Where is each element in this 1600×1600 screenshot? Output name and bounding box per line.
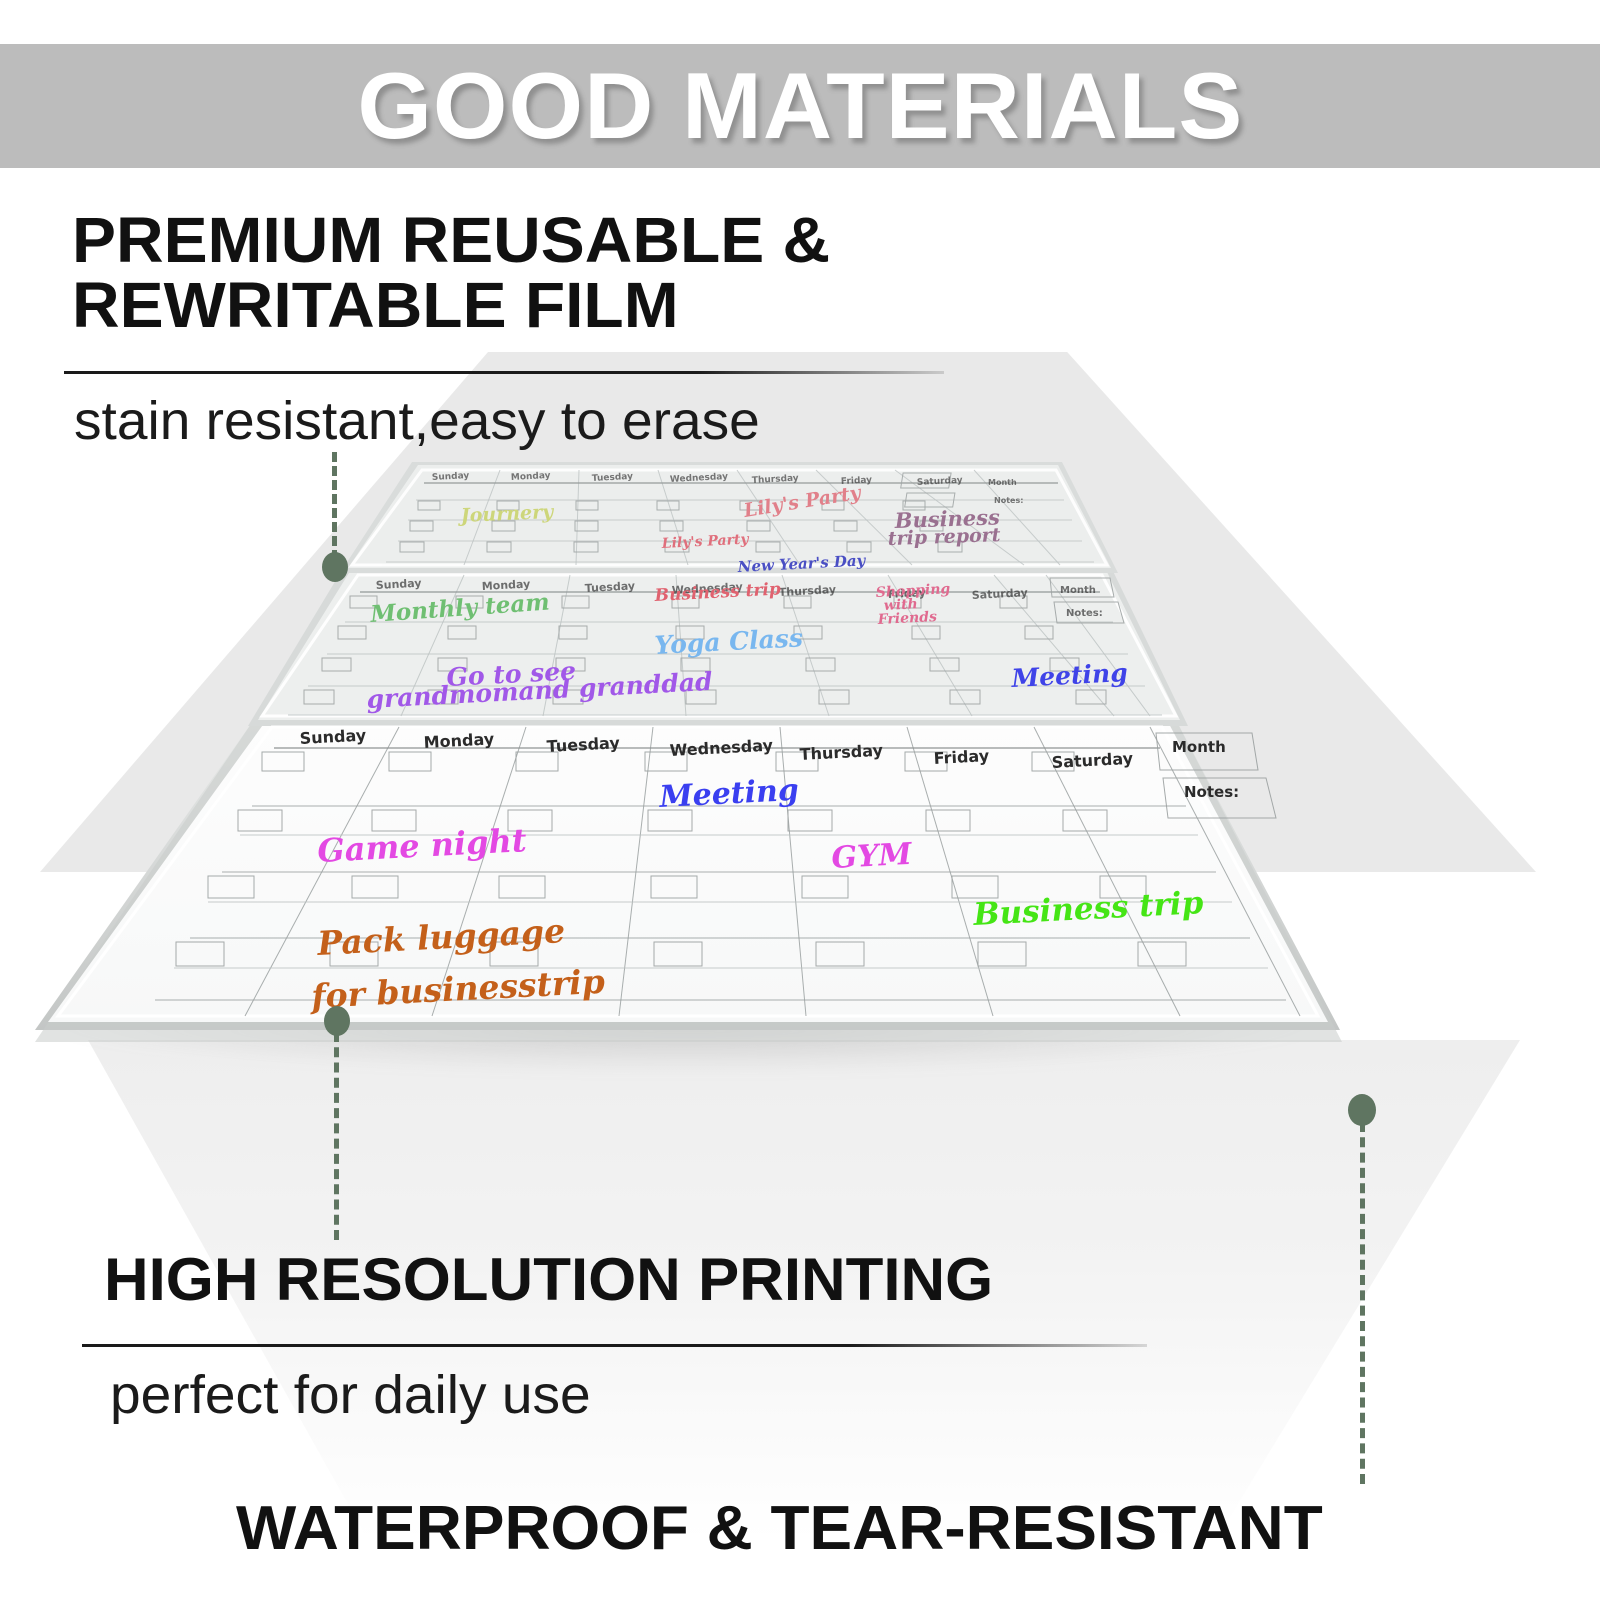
calendar-entry: Pack luggage xyxy=(315,911,566,963)
calendar-entry: Business trip xyxy=(972,885,1205,933)
callout-line-premium-film xyxy=(332,452,337,560)
feature-divider-2 xyxy=(82,1344,1147,1347)
callout-line-waterproof xyxy=(1360,1122,1365,1484)
callout-line-high-res-printing xyxy=(334,1032,339,1240)
callout-dot-waterproof xyxy=(1348,1094,1376,1126)
infographic-root: GOOD MATERIALS PREMIUM REUSABLE & REWRIT… xyxy=(0,0,1600,1600)
header-banner: GOOD MATERIALS xyxy=(0,44,1600,168)
feature-subtitle-premium-film: stain resistant,easy to erase xyxy=(74,390,760,452)
banner-title: GOOD MATERIALS xyxy=(357,52,1243,160)
callout-dot-high-res-printing xyxy=(324,1006,350,1036)
callout-dot-premium-film xyxy=(322,552,348,582)
feature-title-high-res-printing: HIGH RESOLUTION PRINTING xyxy=(104,1249,993,1310)
calendar-ground-shadow xyxy=(40,1020,1330,1072)
feature-divider-1 xyxy=(64,371,944,374)
calendar-entry: for businesstrip xyxy=(308,962,605,1016)
feature-title-waterproof-tear-resistant: WATERPROOF & TEAR-RESISTANT xyxy=(236,1497,1323,1560)
feature-title-premium-film: PREMIUM REUSABLE & REWRITABLE FILM xyxy=(72,208,830,339)
feature-subtitle-high-res-printing: perfect for daily use xyxy=(110,1364,591,1426)
